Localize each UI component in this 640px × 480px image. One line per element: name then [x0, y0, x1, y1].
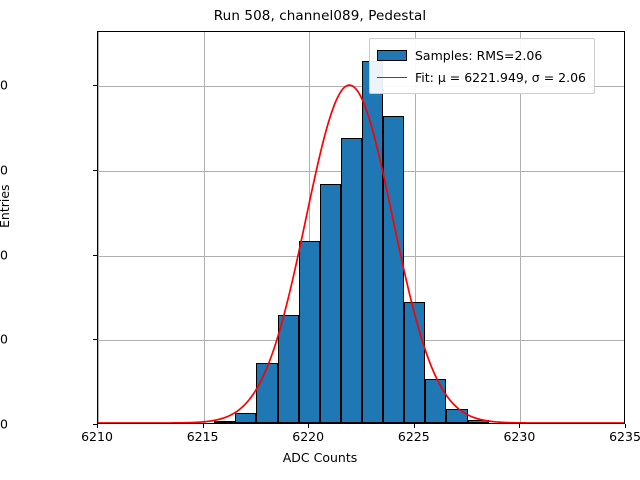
- figure-canvas: Run 508, channel089, Pedestal 0500001000…: [0, 0, 640, 480]
- legend-label-fit: Fit: μ = 6221.949, σ = 2.06: [415, 70, 586, 85]
- legend-label-samples: Samples: RMS=2.06: [415, 48, 542, 63]
- y-tick-label: 0: [0, 417, 8, 432]
- x-tick-mark: [519, 424, 520, 428]
- x-tick-mark: [203, 424, 204, 428]
- y-tick-label: 200000: [0, 78, 8, 93]
- legend-patch-icon: [377, 50, 407, 61]
- x-tick-label: 6225: [398, 429, 430, 444]
- legend-item-fit: Fit: μ = 6221.949, σ = 2.06: [377, 66, 586, 88]
- y-tick-mark: [93, 255, 97, 256]
- page-title: Run 508, channel089, Pedestal: [0, 8, 640, 24]
- y-tick-mark: [93, 85, 97, 86]
- y-tick-mark: [93, 339, 97, 340]
- x-tick-label: 6235: [609, 429, 640, 444]
- x-tick-mark: [625, 424, 626, 428]
- x-tick-label: 6210: [81, 429, 113, 444]
- x-tick-mark: [97, 424, 98, 428]
- y-tick-mark: [93, 170, 97, 171]
- y-tick-label: 50000: [0, 332, 8, 347]
- x-tick-label: 6230: [503, 429, 535, 444]
- x-tick-label: 6215: [187, 429, 219, 444]
- x-tick-label: 6220: [292, 429, 324, 444]
- x-tick-mark: [414, 424, 415, 428]
- x-axis-label: ADC Counts: [0, 450, 640, 465]
- x-tick-mark: [308, 424, 309, 428]
- legend-line-icon: [377, 77, 407, 78]
- y-tick-label: 150000: [0, 162, 8, 177]
- legend-item-samples: Samples: RMS=2.06: [377, 44, 586, 66]
- y-tick-label: 100000: [0, 247, 8, 262]
- y-axis-label: Entries: [0, 184, 12, 228]
- legend: Samples: RMS=2.06 Fit: μ = 6221.949, σ =…: [369, 38, 595, 94]
